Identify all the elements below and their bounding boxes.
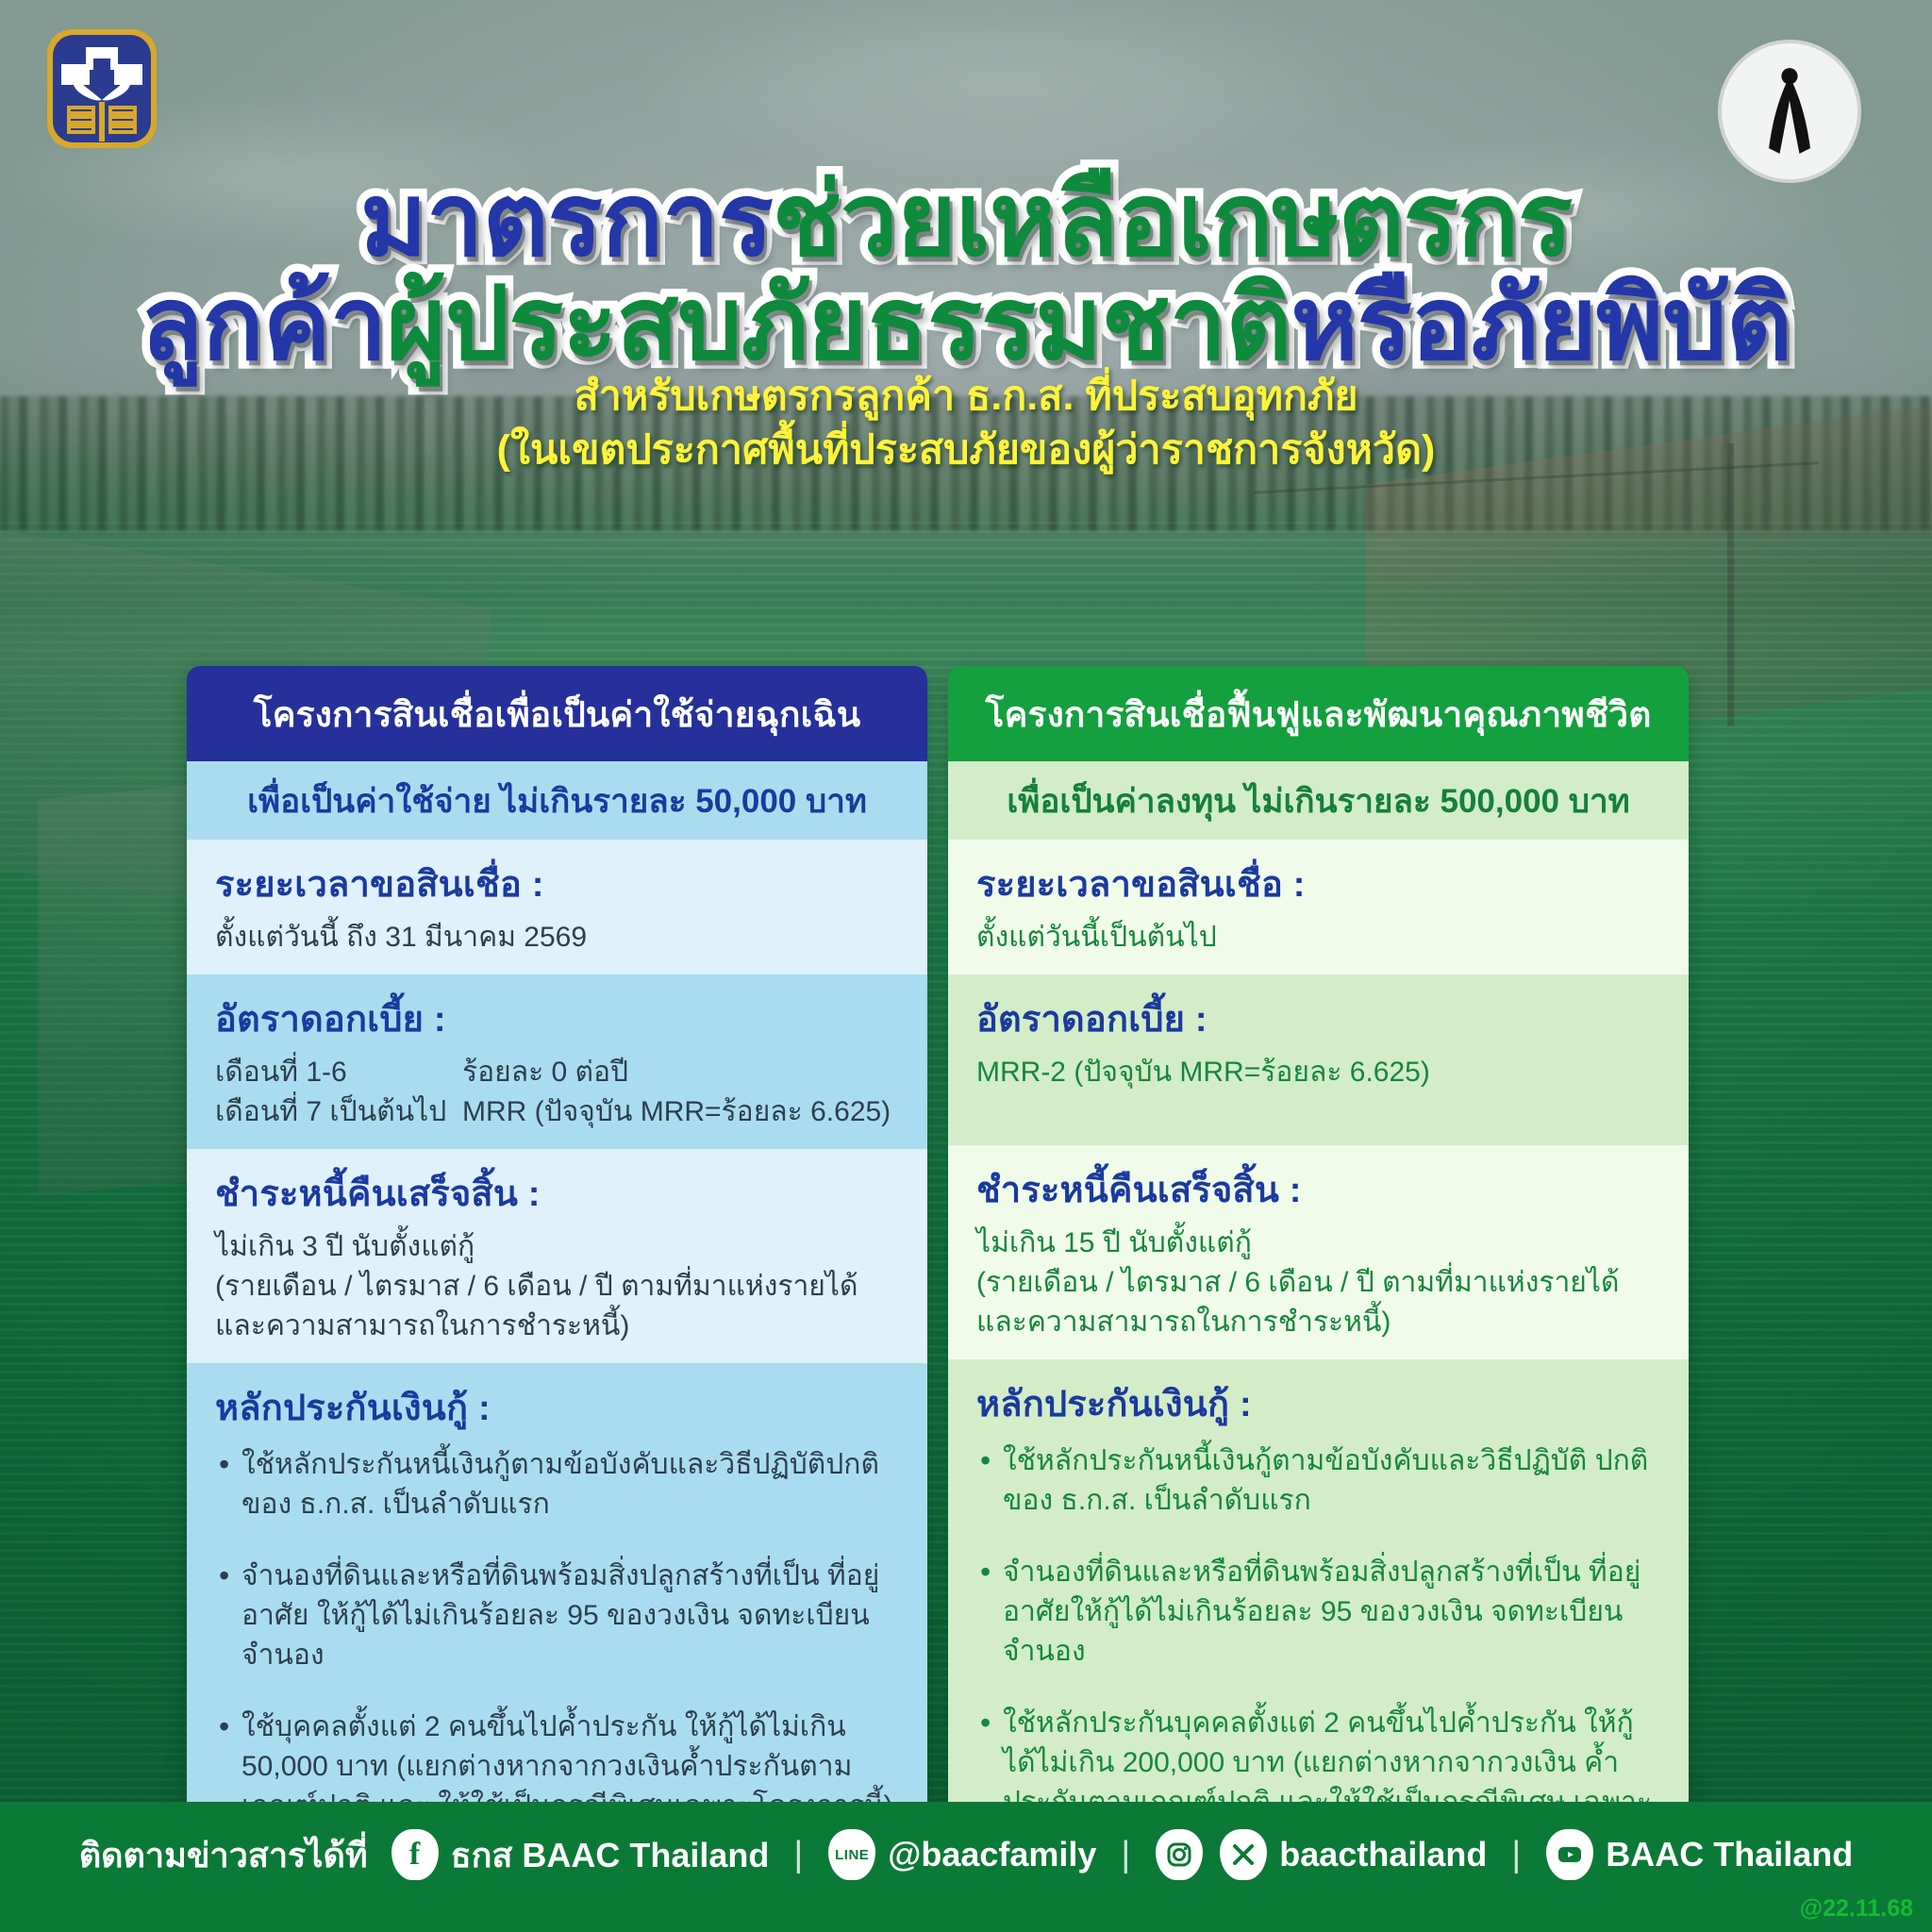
- interest-row-2: [976, 1092, 1664, 1128]
- title-line-2-part-3: หรือภัยพิบัติ: [1291, 266, 1791, 380]
- subtitle-block: สำหรับเกษตรกรลูกค้า ธ.ก.ส. ที่ประสบอุทกภ…: [0, 370, 1932, 477]
- section-body-repayment: ไม่เกิน 3 ปี นับตั้งแต่กู้ (รายเดือน / ไ…: [215, 1227, 903, 1346]
- collateral-bullet-list: ใช้หลักประกันหนี้เงินกู้ตามข้อบังคับและว…: [976, 1441, 1664, 1862]
- footer-separator-3: |: [1511, 1835, 1521, 1875]
- repayment-line-1: ไม่เกิน 3 ปี นับตั้งแต่กู้: [215, 1227, 903, 1267]
- section-title-collateral: หลักประกันเงินกู้ :: [215, 1378, 903, 1436]
- title-line-1-part-2: ช่วยเหลือเกษตรกร: [773, 162, 1572, 276]
- interest-row-2: เดือนที่ 7 เป็นต้นไป MRR (ปัจจุบัน MRR=ร…: [215, 1092, 903, 1132]
- section-body-repayment: ไม่เกิน 15 ปี นับตั้งแต่กู้ (รายเดือน / …: [976, 1224, 1664, 1342]
- footer-item-youtube[interactable]: BAAC Thailand: [1545, 1830, 1853, 1879]
- line-icon[interactable]: LINE: [827, 1830, 876, 1879]
- interest-row-1: MRR-2 (ปัจจุบัน MRR=ร้อยละ 6.625): [976, 1053, 1664, 1092]
- list-item: จำนองที่ดินและหรือที่ดินพร้อมสิ่งปลูกสร้…: [215, 1557, 903, 1675]
- section-loan-period: ระยะเวลาขอสินเชื่อ : ตั้งแต่วันนี้เป็นต้…: [948, 840, 1689, 974]
- black-ribbon-icon: [1749, 61, 1830, 161]
- black-ribbon-badge: [1718, 40, 1861, 183]
- title-line-1-part-1: มาตรการ: [360, 162, 773, 276]
- list-item: ใช้หลักประกันหนี้เงินกู้ตามข้อบังคับและว…: [215, 1445, 903, 1524]
- footer-item-youtube-label: BAAC Thailand: [1606, 1835, 1853, 1874]
- card-emergency-expense-loan: โครงการสินเชื่อเพื่อเป็นค่าใช้จ่ายฉุกเฉิ…: [187, 666, 927, 1883]
- facebook-icon[interactable]: f: [391, 1830, 440, 1879]
- section-title-repayment: ชำระหนี้คืนเสร็จสิ้น :: [215, 1164, 903, 1222]
- section-title-loan-period: ระยะเวลาขอสินเชื่อ :: [215, 855, 903, 912]
- section-title-collateral: หลักประกันเงินกู้ :: [976, 1374, 1664, 1432]
- page-title: มาตรการช่วยเหลือเกษตรกร ลูกค้าผู้ประสบภั…: [0, 168, 1932, 375]
- card-header-title: โครงการสินเชื่อเพื่อเป็นค่าใช้จ่ายฉุกเฉิ…: [187, 666, 927, 761]
- collateral-bullet-list: ใช้หลักประกันหนี้เงินกู้ตามข้อบังคับและว…: [215, 1445, 903, 1826]
- section-body-loan-period: ตั้งแต่วันนี้ ถึง 31 มีนาคม 2569: [215, 918, 903, 958]
- repayment-line-3: และความสามารถในการชำระหนี้): [215, 1307, 903, 1346]
- title-line-1: มาตรการช่วยเหลือเกษตรกร: [0, 168, 1932, 272]
- interest-row-1-label: MRR-2 (ปัจจุบัน MRR=ร้อยละ 6.625): [976, 1053, 1430, 1092]
- footer-item-facebook-label: ธกส BAAC Thailand: [451, 1828, 770, 1882]
- youtube-icon[interactable]: [1545, 1830, 1594, 1879]
- loan-programs-container: โครงการสินเชื่อเพื่อเป็นค่าใช้จ่ายฉุกเฉิ…: [187, 666, 1745, 1883]
- footer-item-x-twitter[interactable]: baacthailand: [1219, 1830, 1487, 1879]
- repayment-line-3: และความสามารถในการชำระหนี้): [976, 1303, 1664, 1342]
- repayment-line-1: ไม่เกิน 15 ปี นับตั้งแต่กู้: [976, 1224, 1664, 1263]
- card-rehabilitation-loan: โครงการสินเชื่อฟื้นฟูและพัฒนาคุณภาพชีวิต…: [948, 666, 1689, 1883]
- section-loan-period: ระยะเวลาขอสินเชื่อ : ตั้งแต่วันนี้ ถึง 3…: [187, 840, 927, 974]
- section-title-interest-rate: อัตราดอกเบี้ย :: [215, 990, 903, 1047]
- repayment-line-2: (รายเดือน / ไตรมาส / 6 เดือน / ปี ตามที่…: [215, 1267, 903, 1307]
- section-interest-rate: อัตราดอกเบี้ย : เดือนที่ 1-6 ร้อยละ 0 ต่…: [187, 974, 927, 1149]
- instagram-icon[interactable]: [1155, 1830, 1204, 1879]
- interest-row-1-value: ร้อยละ 0 ต่อปี: [462, 1053, 628, 1092]
- section-title-repayment: ชำระหนี้คืนเสร็จสิ้น :: [976, 1160, 1664, 1218]
- section-title-interest-rate: อัตราดอกเบี้ย :: [976, 990, 1664, 1047]
- interest-row-1: เดือนที่ 1-6 ร้อยละ 0 ต่อปี: [215, 1053, 903, 1092]
- title-line-2-part-2: ผู้ประสบภัยธรรมชาติ: [387, 266, 1291, 380]
- footer-separator-1: |: [793, 1835, 803, 1875]
- title-line-2-part-1: ลูกค้า: [141, 266, 386, 380]
- section-body-interest-rate: MRR-2 (ปัจจุบัน MRR=ร้อยละ 6.625): [976, 1053, 1664, 1128]
- section-repayment: ชำระหนี้คืนเสร็จสิ้น : ไม่เกิน 15 ปี นับ…: [948, 1145, 1689, 1359]
- baac-shield-logo: [44, 26, 159, 151]
- list-item: จำนองที่ดินและหรือที่ดินพร้อมสิ่งปลูกสร้…: [976, 1553, 1664, 1672]
- footer-item-instagram[interactable]: [1155, 1830, 1204, 1879]
- social-footer: ติดตามข่าวสารได้ที่ f ธกส BAAC Thailand …: [0, 1802, 1932, 1932]
- section-body-interest-rate: เดือนที่ 1-6 ร้อยละ 0 ต่อปี เดือนที่ 7 เ…: [215, 1053, 903, 1132]
- subtitle-line-2: (ในเขตประกาศพื้นที่ประสบภัยของผู้ว่าราชก…: [0, 424, 1932, 477]
- card-amount-line: เพื่อเป็นค่าใช้จ่าย ไม่เกินรายละ 50,000 …: [187, 761, 927, 840]
- footer-item-x-label: baacthailand: [1279, 1835, 1487, 1874]
- list-item: ใช้หลักประกันหนี้เงินกู้ตามข้อบังคับและว…: [976, 1441, 1664, 1521]
- section-body-loan-period: ตั้งแต่วันนี้เป็นต้นไป: [976, 918, 1664, 958]
- section-repayment: ชำระหนี้คืนเสร็จสิ้น : ไม่เกิน 3 ปี นับต…: [187, 1149, 927, 1363]
- interest-row-1-label: เดือนที่ 1-6: [215, 1053, 462, 1092]
- interest-row-2-label: เดือนที่ 7 เป็นต้นไป: [215, 1092, 462, 1132]
- card-header-title: โครงการสินเชื่อฟื้นฟูและพัฒนาคุณภาพชีวิต: [948, 666, 1689, 761]
- footer-item-facebook[interactable]: f ธกส BAAC Thailand: [391, 1828, 770, 1882]
- footer-follow-label: ติดตามข่าวสารได้ที่: [79, 1828, 368, 1882]
- section-title-loan-period: ระยะเวลาขอสินเชื่อ :: [976, 855, 1664, 912]
- interest-row-2-value: MRR (ปัจจุบัน MRR=ร้อยละ 6.625): [462, 1092, 891, 1132]
- subtitle-line-1: สำหรับเกษตรกรลูกค้า ธ.ก.ส. ที่ประสบอุทกภ…: [0, 370, 1932, 424]
- title-line-2: ลูกค้าผู้ประสบภัยธรรมชาติหรือภัยพิบัติ: [0, 272, 1932, 375]
- footer-item-line-label: @baacfamily: [888, 1835, 1096, 1874]
- section-interest-rate: อัตราดอกเบี้ย : MRR-2 (ปัจจุบัน MRR=ร้อย…: [948, 974, 1689, 1145]
- date-watermark: @22.11.68: [1800, 1895, 1913, 1923]
- footer-separator-2: |: [1121, 1835, 1130, 1875]
- x-twitter-icon[interactable]: [1219, 1830, 1268, 1879]
- footer-item-line[interactable]: LINE @baacfamily: [827, 1830, 1096, 1879]
- repayment-line-2: (รายเดือน / ไตรมาส / 6 เดือน / ปี ตามที่…: [976, 1263, 1664, 1303]
- card-amount-line: เพื่อเป็นค่าลงทุน ไม่เกินรายละ 500,000 บ…: [948, 761, 1689, 840]
